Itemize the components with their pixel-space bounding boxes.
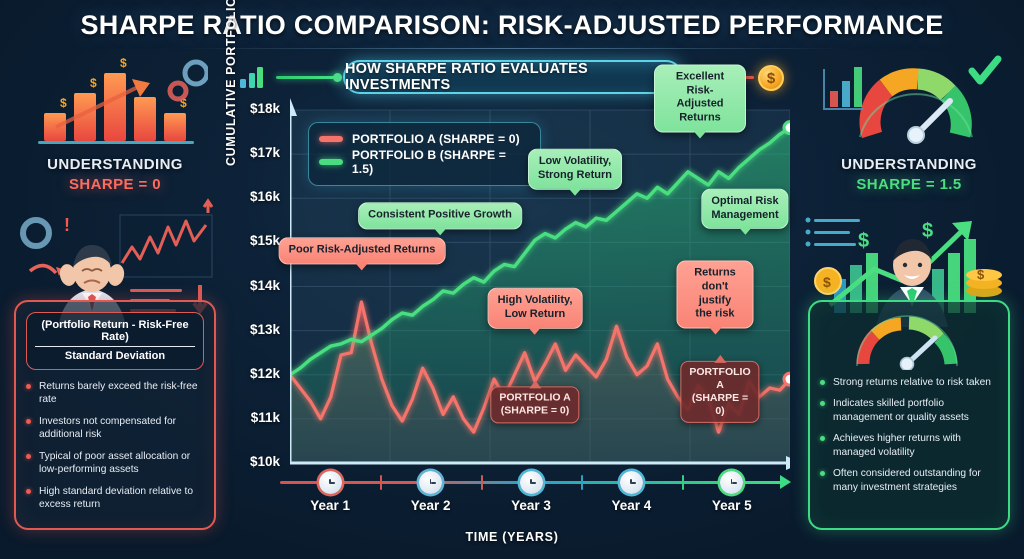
clock-icon [419,471,442,494]
annotation-callout: Low Volatility,Strong Return [528,149,622,189]
svg-text:$: $ [120,56,127,70]
y-axis-tick: $18k [226,101,280,116]
right-info-card: Strong returns relative to risk taken In… [808,300,1010,530]
formula-denominator: Standard Deviation [35,347,195,362]
svg-text:$: $ [90,76,97,90]
svg-text:$: $ [858,230,869,252]
series-tag: PORTFOLIO A(SHARPE = 0) [490,387,579,424]
subtitle-badge: HOW SHARPE RATIO EVALUATES INVESTMENTS [343,60,683,94]
list-item: Achieves higher returns with managed vol… [820,432,998,459]
svg-text:!: ! [64,215,70,235]
dollar-coin-icon: $ [758,65,784,91]
annotation-callout: Excellent Risk-Adjusted Returns [654,65,746,133]
list-item: Typical of poor asset allocation or low-… [26,450,204,477]
title-divider [180,48,844,49]
infographic-root: SHARPE RATIO COMPARISON: RISK-ADJUSTED P… [0,0,1024,559]
x-axis-label: TIME (YEARS) [0,530,1024,544]
right-bullet-list: Strong returns relative to risk taken In… [820,376,998,494]
right-panel: UNDERSTANDING SHARPE = 1.5 $ $ [800,55,1018,550]
bar-chart-icon [240,66,270,88]
x-axis-tick-label: Year 2 [396,498,466,513]
left-info-card: (Portfolio Return - Risk-Free Rate) Stan… [14,300,216,530]
list-item: Returns barely exceed the risk-free rate [26,380,204,407]
x-axis-tick-label: Year 3 [496,498,566,513]
legend-item-portfolio-a: PORTFOLIO A (SHARPE = 0) [319,132,530,146]
annotation-callout: Optimal Risk Management [701,189,788,229]
y-axis-ticks: $10k$11k$12k$13k$14k$15k$16k$17k$18k [226,96,280,496]
left-panel-heading: UNDERSTANDING SHARPE = 0 [6,155,224,196]
svg-text:$: $ [60,96,67,110]
timeline-tick [481,475,483,490]
connector-line-green [276,76,338,79]
speedometer-gauge-icon [849,312,969,370]
clock-icon [720,471,743,494]
svg-text:$: $ [977,267,985,282]
coin-symbol: $ [767,70,775,87]
y-axis-tick: $10k [226,454,280,469]
line-chart: CUMULATIVE PORTFOLIO VALUE (USD) $10k$11… [232,96,792,496]
timeline-tick [682,475,684,490]
series-tag: PORTFOLIO A(SHARPE = 0) [680,361,759,423]
clock-icon [520,471,543,494]
timeline-tick [581,475,583,490]
y-axis-tick: $16k [226,189,280,204]
svg-text:$: $ [922,220,933,242]
timeline-arrow-icon [780,475,791,489]
legend-swatch-red [319,136,343,142]
y-axis-tick: $15k [226,233,280,248]
right-panel-heading: UNDERSTANDING SHARPE = 1.5 [800,155,1018,196]
list-item: High standard deviation relative to exce… [26,485,204,512]
svg-text:$: $ [823,274,831,290]
annotation-callout: Consistent Positive Growth [358,203,522,230]
left-panel: $ $ $ $ UNDERSTANDING SHARPE = 0 ! [6,55,224,550]
x-axis-tick-label: Year 1 [295,498,365,513]
subtitle-badge-label: HOW SHARPE RATIO EVALUATES INVESTMENTS [345,61,681,93]
left-heading-line1: UNDERSTANDING [6,155,224,175]
list-item: Investors not compensated for additional… [26,415,204,442]
list-item: Indicates skilled portfolio management o… [820,397,998,424]
performance-gauge-icon [814,49,1004,153]
y-axis-tick: $11k [226,410,280,425]
declining-bar-chart-icon: $ $ $ $ [28,51,208,151]
page-title: SHARPE RATIO COMPARISON: RISK-ADJUSTED P… [0,10,1024,41]
annotation-callout: Poor Risk-Adjusted Returns [279,238,446,265]
formula-numerator: (Portfolio Return - Risk-Free Rate) [35,319,195,347]
legend-label-a: PORTFOLIO A (SHARPE = 0) [352,132,520,146]
sharpe-formula: (Portfolio Return - Risk-Free Rate) Stan… [26,312,204,370]
legend-swatch-green [319,159,343,165]
annotation-callout: High Volatility,Low Return [488,288,583,328]
annotation-callout: Returns don't justifythe risk [677,261,754,329]
list-item: Strong returns relative to risk taken [820,376,998,389]
clock-icon [620,471,643,494]
right-heading-line1: UNDERSTANDING [800,155,1018,175]
time-axis: Year 1Year 2Year 3Year 4Year 5 [280,470,782,494]
y-axis-tick: $13k [226,322,280,337]
legend-label-b: PORTFOLIO B (SHARPE = 1.5) [352,148,530,176]
y-axis-tick: $12k [226,366,280,381]
chart-legend: PORTFOLIO A (SHARPE = 0) PORTFOLIO B (SH… [308,122,541,186]
left-heading-line2: SHARPE = 0 [6,175,224,195]
left-bullet-list: Returns barely exceed the risk-free rate… [26,380,204,512]
list-item: Often considered outstanding for many in… [820,467,998,494]
legend-item-portfolio-b: PORTFOLIO B (SHARPE = 1.5) [319,148,530,176]
y-axis-tick: $14k [226,278,280,293]
x-axis-tick-label: Year 5 [697,498,767,513]
x-axis-tick-label: Year 4 [596,498,666,513]
right-heading-line2: SHARPE = 1.5 [800,175,1018,195]
y-axis-tick: $17k [226,145,280,160]
clock-icon [319,471,342,494]
